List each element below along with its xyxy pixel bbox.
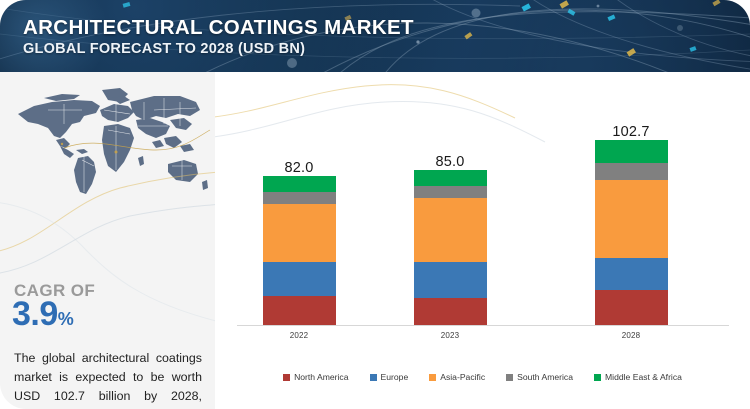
summary-description: The global architectural coatings market… [14,349,202,409]
bar-segment-europe [414,262,487,298]
legend-swatch-icon [506,374,513,381]
world-map-svg [4,80,212,200]
bar-segment-middle-east-africa [595,140,668,163]
bar-segment-north-america [263,296,336,325]
bar-segment-south-america [414,186,487,198]
page-title: ARCHITECTURAL COATINGS MARKET [23,16,414,40]
bar-segment-north-america [414,298,487,325]
legend-item-north-america[interactable]: North America [283,372,348,382]
bar-segment-europe [595,258,668,290]
header-banner: ARCHITECTURAL COATINGS MARKET GLOBAL FOR… [0,0,750,72]
legend-item-europe[interactable]: Europe [370,372,409,382]
bar-segment-asia-pacific [263,204,336,262]
page-subtitle: GLOBAL FORECAST TO 2028 (USD BN) [23,41,305,57]
bar-chart-plot: 82.0 2022 85.0 2023 102.7 [215,72,750,409]
bar-segment-asia-pacific [595,180,668,258]
bar-segment-middle-east-africa [263,176,336,192]
bar-total-label-2023: 85.0 [390,154,510,170]
infographic-canvas: ARCHITECTURAL COATINGS MARKET GLOBAL FOR… [0,0,750,409]
bar-segment-asia-pacific [414,198,487,262]
legend-swatch-icon [594,374,601,381]
bar-segment-middle-east-africa [414,170,487,186]
stacked-bar-2022[interactable] [263,176,336,325]
cagr-value: 3.9% [12,297,73,331]
legend-label: South America [517,372,573,382]
legend-swatch-icon [429,374,436,381]
bar-segment-south-america [263,192,336,204]
cagr-number: 3.9 [12,295,58,333]
legend-label: Asia-Pacific [440,372,485,382]
cagr-percent-symbol: % [58,309,74,329]
legend-label: Middle East & Africa [605,372,682,382]
x-axis-line [237,325,729,326]
legend-label: North America [294,372,348,382]
legend-swatch-icon [370,374,377,381]
bar-total-label-2028: 102.7 [571,124,691,140]
bar-segment-north-america [595,290,668,325]
x-axis-label-2028: 2028 [571,331,691,340]
legend-item-middle-east-africa[interactable]: Middle East & Africa [594,372,682,382]
legend-item-south-america[interactable]: South America [506,372,573,382]
bar-segment-south-america [595,163,668,180]
world-map-icon [4,80,212,200]
chart-legend: North America Europe Asia-Pacific South … [215,372,750,382]
x-axis-label-2023: 2023 [390,331,510,340]
legend-item-asia-pacific[interactable]: Asia-Pacific [429,372,485,382]
legend-swatch-icon [283,374,290,381]
stacked-bar-2028[interactable] [595,140,668,325]
x-axis-label-2022: 2022 [239,331,359,340]
stacked-bar-2023[interactable] [414,170,487,325]
legend-label: Europe [381,372,409,382]
chart-panel: 82.0 2022 85.0 2023 102.7 [215,72,750,409]
bar-total-label-2022: 82.0 [239,160,359,176]
left-summary-panel: CAGR OF 3.9% The global architectural co… [0,72,215,409]
bar-segment-europe [263,262,336,296]
